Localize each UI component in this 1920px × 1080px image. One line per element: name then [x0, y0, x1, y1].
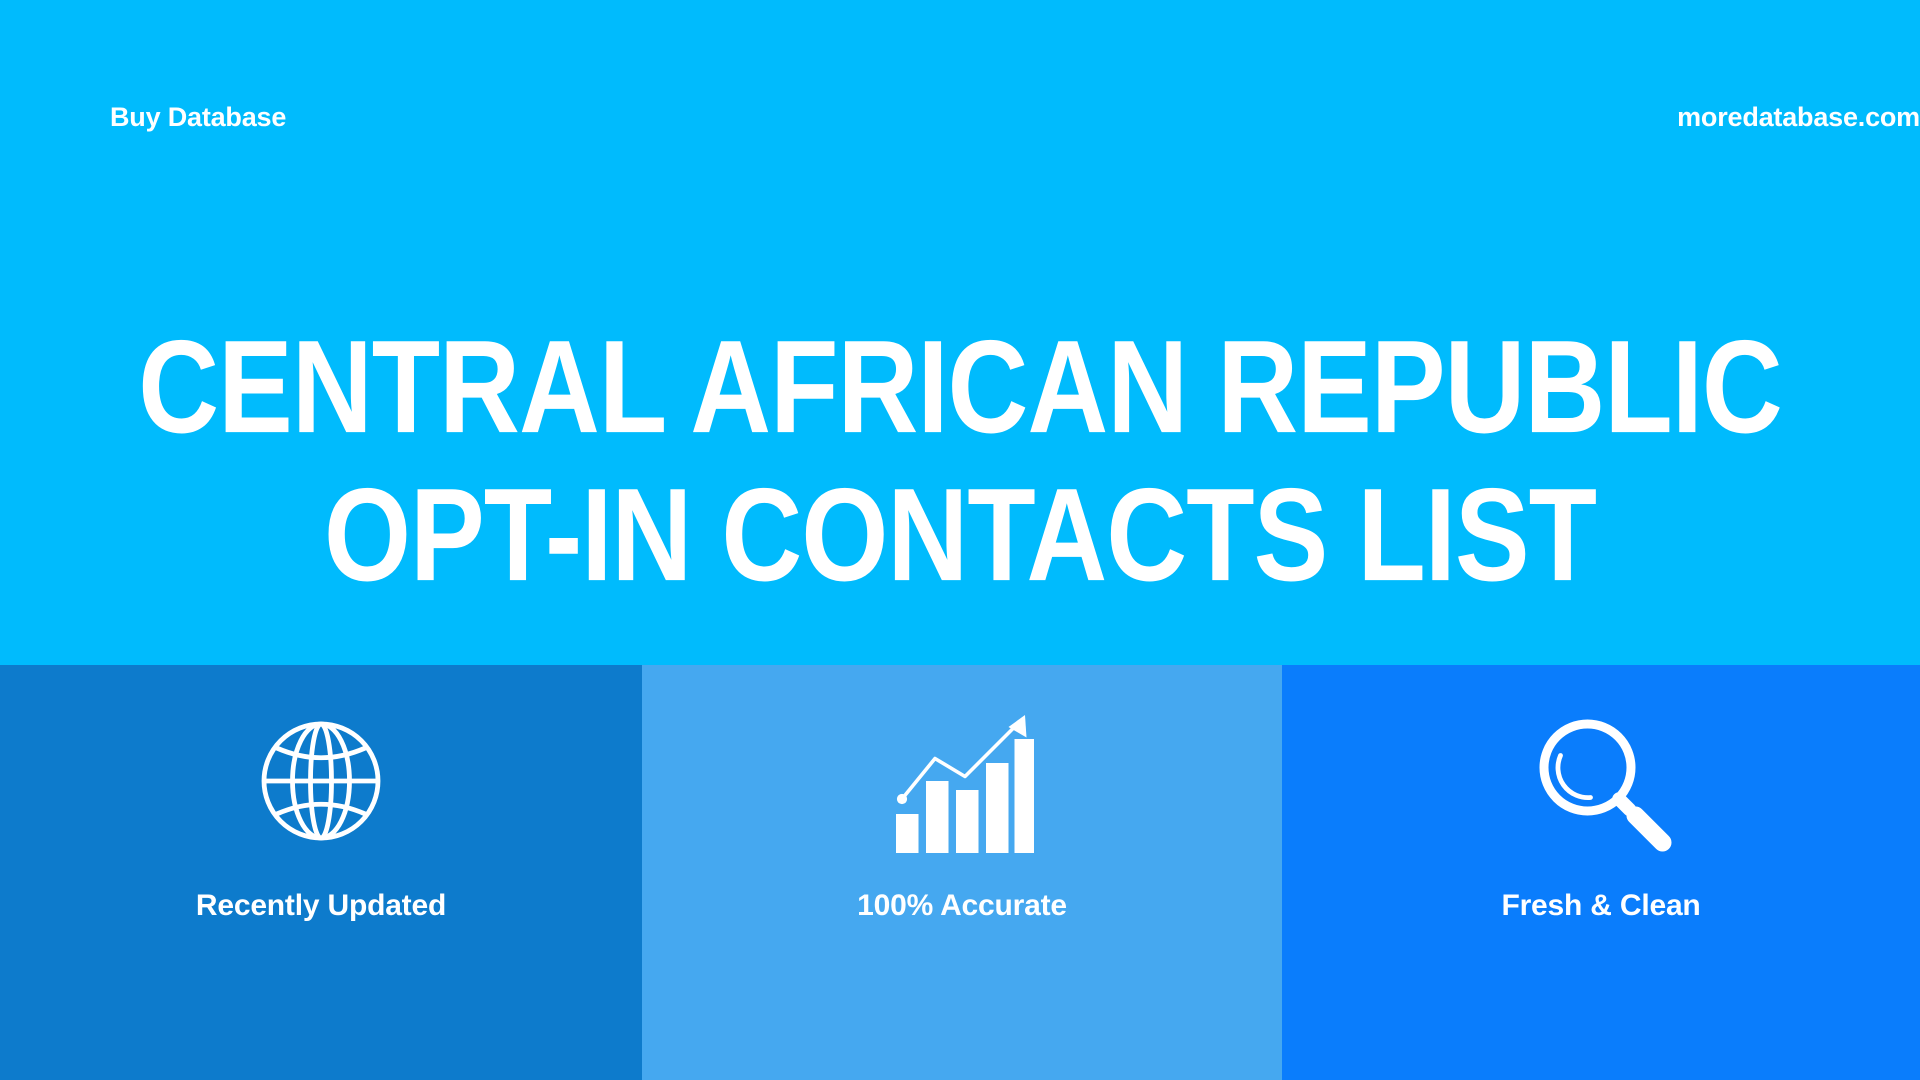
feature-panel-fresh-clean: Fresh & Clean [1282, 665, 1920, 1080]
feature-label-accurate: 100% Accurate [857, 889, 1067, 923]
feature-panels: Recently Updated [0, 665, 1920, 1080]
feature-label-recently-updated: Recently Updated [196, 889, 446, 923]
page-title-line-2: OPT-IN CONTACTS LIST [0, 448, 1920, 623]
promo-banner: Buy Database moredatabase.com CENTRAL AF… [0, 0, 1920, 1080]
magnifier-icon [1526, 701, 1676, 861]
feature-panel-recently-updated: Recently Updated [0, 665, 642, 1080]
hero-section: Buy Database moredatabase.com CENTRAL AF… [0, 0, 1920, 665]
feature-label-fresh-clean: Fresh & Clean [1501, 889, 1700, 923]
bar-chart-growth-icon [887, 701, 1037, 861]
globe-icon [246, 701, 396, 861]
page-title: CENTRAL AFRICAN REPUBLIC OPT-IN CONTACTS… [0, 300, 1920, 596]
site-domain-label: moredatabase.com [1677, 104, 1920, 131]
brand-label: Buy Database [110, 104, 286, 131]
feature-panel-accurate: 100% Accurate [642, 665, 1282, 1080]
